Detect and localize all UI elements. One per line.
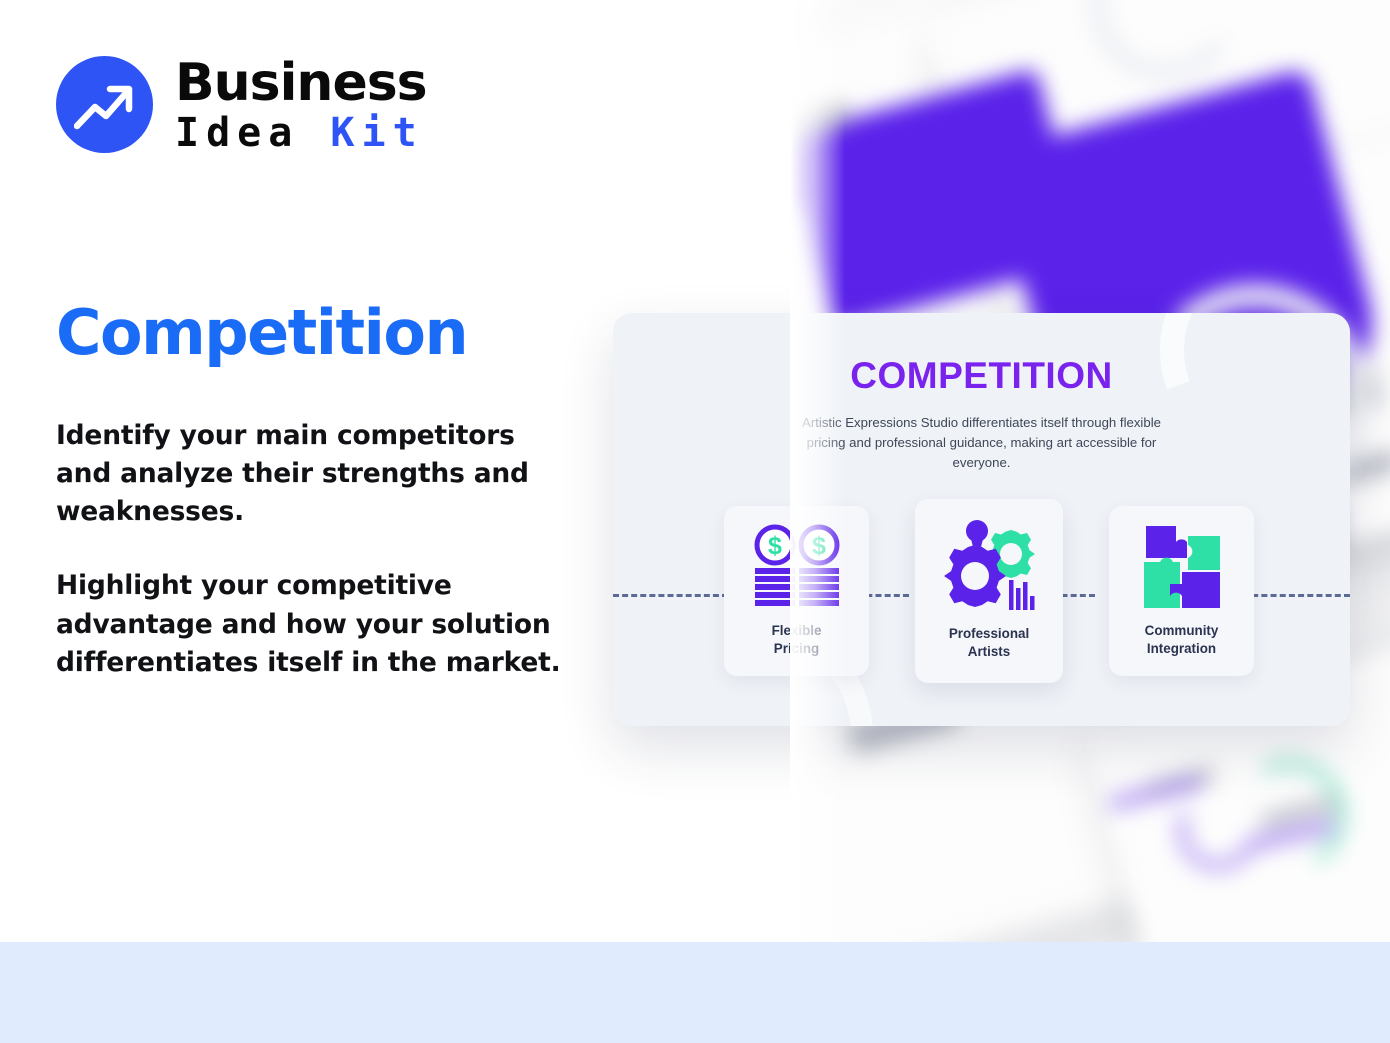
feature-label: Professional Artists <box>949 625 1029 661</box>
background-text-block <box>790 102 850 159</box>
body-copy: Identify your main competitors and analy… <box>56 417 576 682</box>
brand-name-kit: Kit <box>330 110 423 156</box>
svg-text:$: $ <box>768 532 782 560</box>
puzzle-pieces-icon <box>1136 520 1228 616</box>
feature-label-line1: Community <box>1145 623 1219 638</box>
feature-label: Community Integration <box>1145 622 1219 658</box>
footer-band <box>0 942 1390 1043</box>
growth-arrow-circle-icon <box>56 56 153 153</box>
page-title: Competition <box>56 296 467 369</box>
feature-tile-professional-artists[interactable]: Professional Artists <box>915 499 1063 683</box>
card-title: COMPETITION <box>613 355 1350 397</box>
connector-dash-right <box>1243 594 1350 597</box>
brand-name-bottom: Idea Kit <box>175 113 427 153</box>
feature-label-line2: Integration <box>1147 641 1216 656</box>
body-paragraph-1: Identify your main competitors and analy… <box>56 417 576 531</box>
competition-slide-card: COMPETITION Artistic Expressions Studio … <box>613 313 1350 726</box>
feature-label-line2: Artists <box>968 644 1010 659</box>
card-subtitle: Artistic Expressions Studio differentiat… <box>792 413 1172 473</box>
brand-name-top: Business <box>175 57 427 109</box>
slide-page: Business Idea Kit Competition Identify y… <box>0 0 1390 1043</box>
connector-dash-left <box>613 594 728 597</box>
brand-wordmark: Business Idea Kit <box>175 57 427 153</box>
brand-name-idea: Idea <box>175 110 299 156</box>
feature-label-line1: Professional <box>949 626 1029 641</box>
body-paragraph-2: Highlight your competitive advantage and… <box>56 567 576 681</box>
gears-lightbulb-chart-icon <box>939 515 1039 619</box>
feature-tile-community-integration[interactable]: Community Integration <box>1109 506 1254 676</box>
brand-logo[interactable]: Business Idea Kit <box>56 56 427 153</box>
card-ring-decoration <box>1122 313 1350 503</box>
